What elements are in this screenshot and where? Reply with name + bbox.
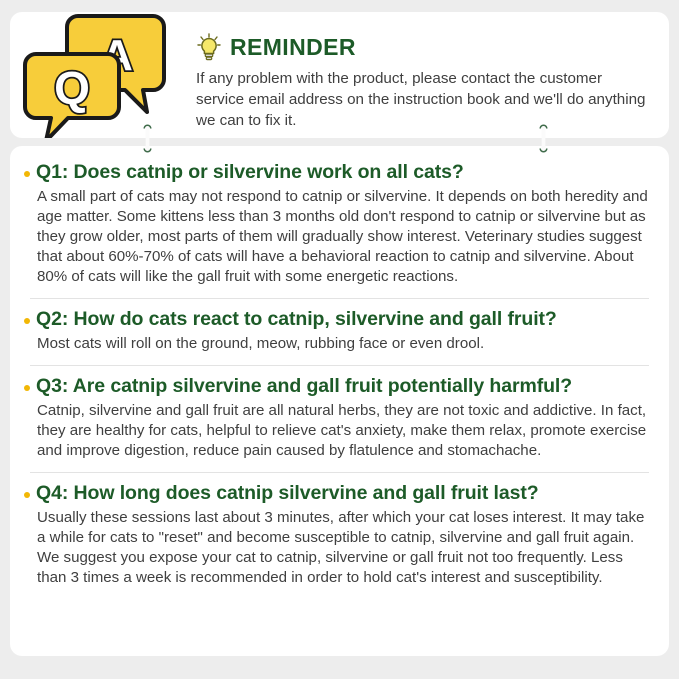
faq-question-text: Q4: How long does catnip silvervine and … xyxy=(36,483,539,505)
faq-item-q2: Q2: How do cats react to catnip, silverv… xyxy=(24,309,655,354)
faq-answer-text: Catnip, silvervine and gall fruit are al… xyxy=(37,401,655,461)
bullet-dot-icon xyxy=(24,171,30,177)
reminder-card: A Q REMINDER xyxy=(10,12,669,138)
reminder-text: If any problem with the product, please … xyxy=(196,69,653,132)
faq-answer-text: Most cats will roll on the ground, meow,… xyxy=(37,334,655,354)
faq-question-row: Q2: How do cats react to catnip, silverv… xyxy=(24,309,655,331)
faq-item-q1: Q1: Does catnip or silvervine work on al… xyxy=(24,162,655,287)
faq-question-row: Q3: Are catnip silvervine and gall fruit… xyxy=(24,376,655,398)
faq-item-q4: Q4: How long does catnip silvervine and … xyxy=(24,483,655,588)
faq-answer-text: Usually these sessions last about 3 minu… xyxy=(37,508,655,588)
faq-question-text: Q3: Are catnip silvervine and gall fruit… xyxy=(36,376,572,398)
svg-text:Q: Q xyxy=(54,62,90,114)
faq-divider xyxy=(30,298,649,299)
faq-question-row: Q1: Does catnip or silvervine work on al… xyxy=(24,162,655,184)
staple-clip-right xyxy=(538,123,549,154)
lightbulb-icon xyxy=(196,33,222,61)
reminder-heading-row: REMINDER xyxy=(196,32,653,62)
reminder-title: REMINDER xyxy=(230,36,356,59)
staple-clip-left xyxy=(142,123,153,154)
bullet-dot-icon xyxy=(24,318,30,324)
faq-question-text: Q1: Does catnip or silvervine work on al… xyxy=(36,162,464,184)
faq-question-text: Q2: How do cats react to catnip, silverv… xyxy=(36,309,557,331)
qa-speech-bubbles-icon: A Q xyxy=(18,10,183,138)
faq-divider xyxy=(30,365,649,366)
bullet-dot-icon xyxy=(24,492,30,498)
bullet-dot-icon xyxy=(24,385,30,391)
faq-card: Q1: Does catnip or silvervine work on al… xyxy=(10,146,669,656)
reminder-body: REMINDER If any problem with the product… xyxy=(196,32,653,132)
faq-question-row: Q4: How long does catnip silvervine and … xyxy=(24,483,655,505)
faq-item-q3: Q3: Are catnip silvervine and gall fruit… xyxy=(24,376,655,461)
faq-page: A Q REMINDER xyxy=(0,0,679,679)
faq-answer-text: A small part of cats may not respond to … xyxy=(37,187,655,287)
faq-divider xyxy=(30,472,649,473)
